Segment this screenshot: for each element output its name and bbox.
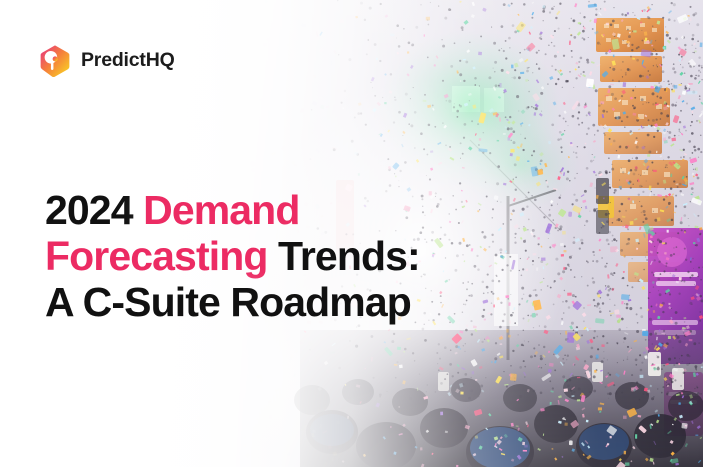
headline-year: 2024	[45, 187, 143, 233]
brand-name: PredictHQ	[81, 51, 175, 71]
headline-accent-forecasting: Forecasting	[45, 233, 268, 279]
headline-line-1: 2024 Demand	[45, 188, 420, 234]
headline-trends: Trends:	[268, 233, 420, 279]
predicthq-hexagon-pin-icon	[38, 44, 72, 78]
hero-banner: PredictHQ 2024 Demand Forecasting Trends…	[0, 0, 703, 467]
brand-logo[interactable]: PredictHQ	[38, 44, 175, 78]
headline-line-3: A C-Suite Roadmap	[45, 280, 420, 326]
headline-accent-demand: Demand	[143, 187, 299, 233]
page-title: 2024 Demand Forecasting Trends: A C-Suit…	[45, 188, 420, 326]
traffic-signal	[596, 178, 609, 204]
headline-line-2: Forecasting Trends:	[45, 234, 420, 280]
